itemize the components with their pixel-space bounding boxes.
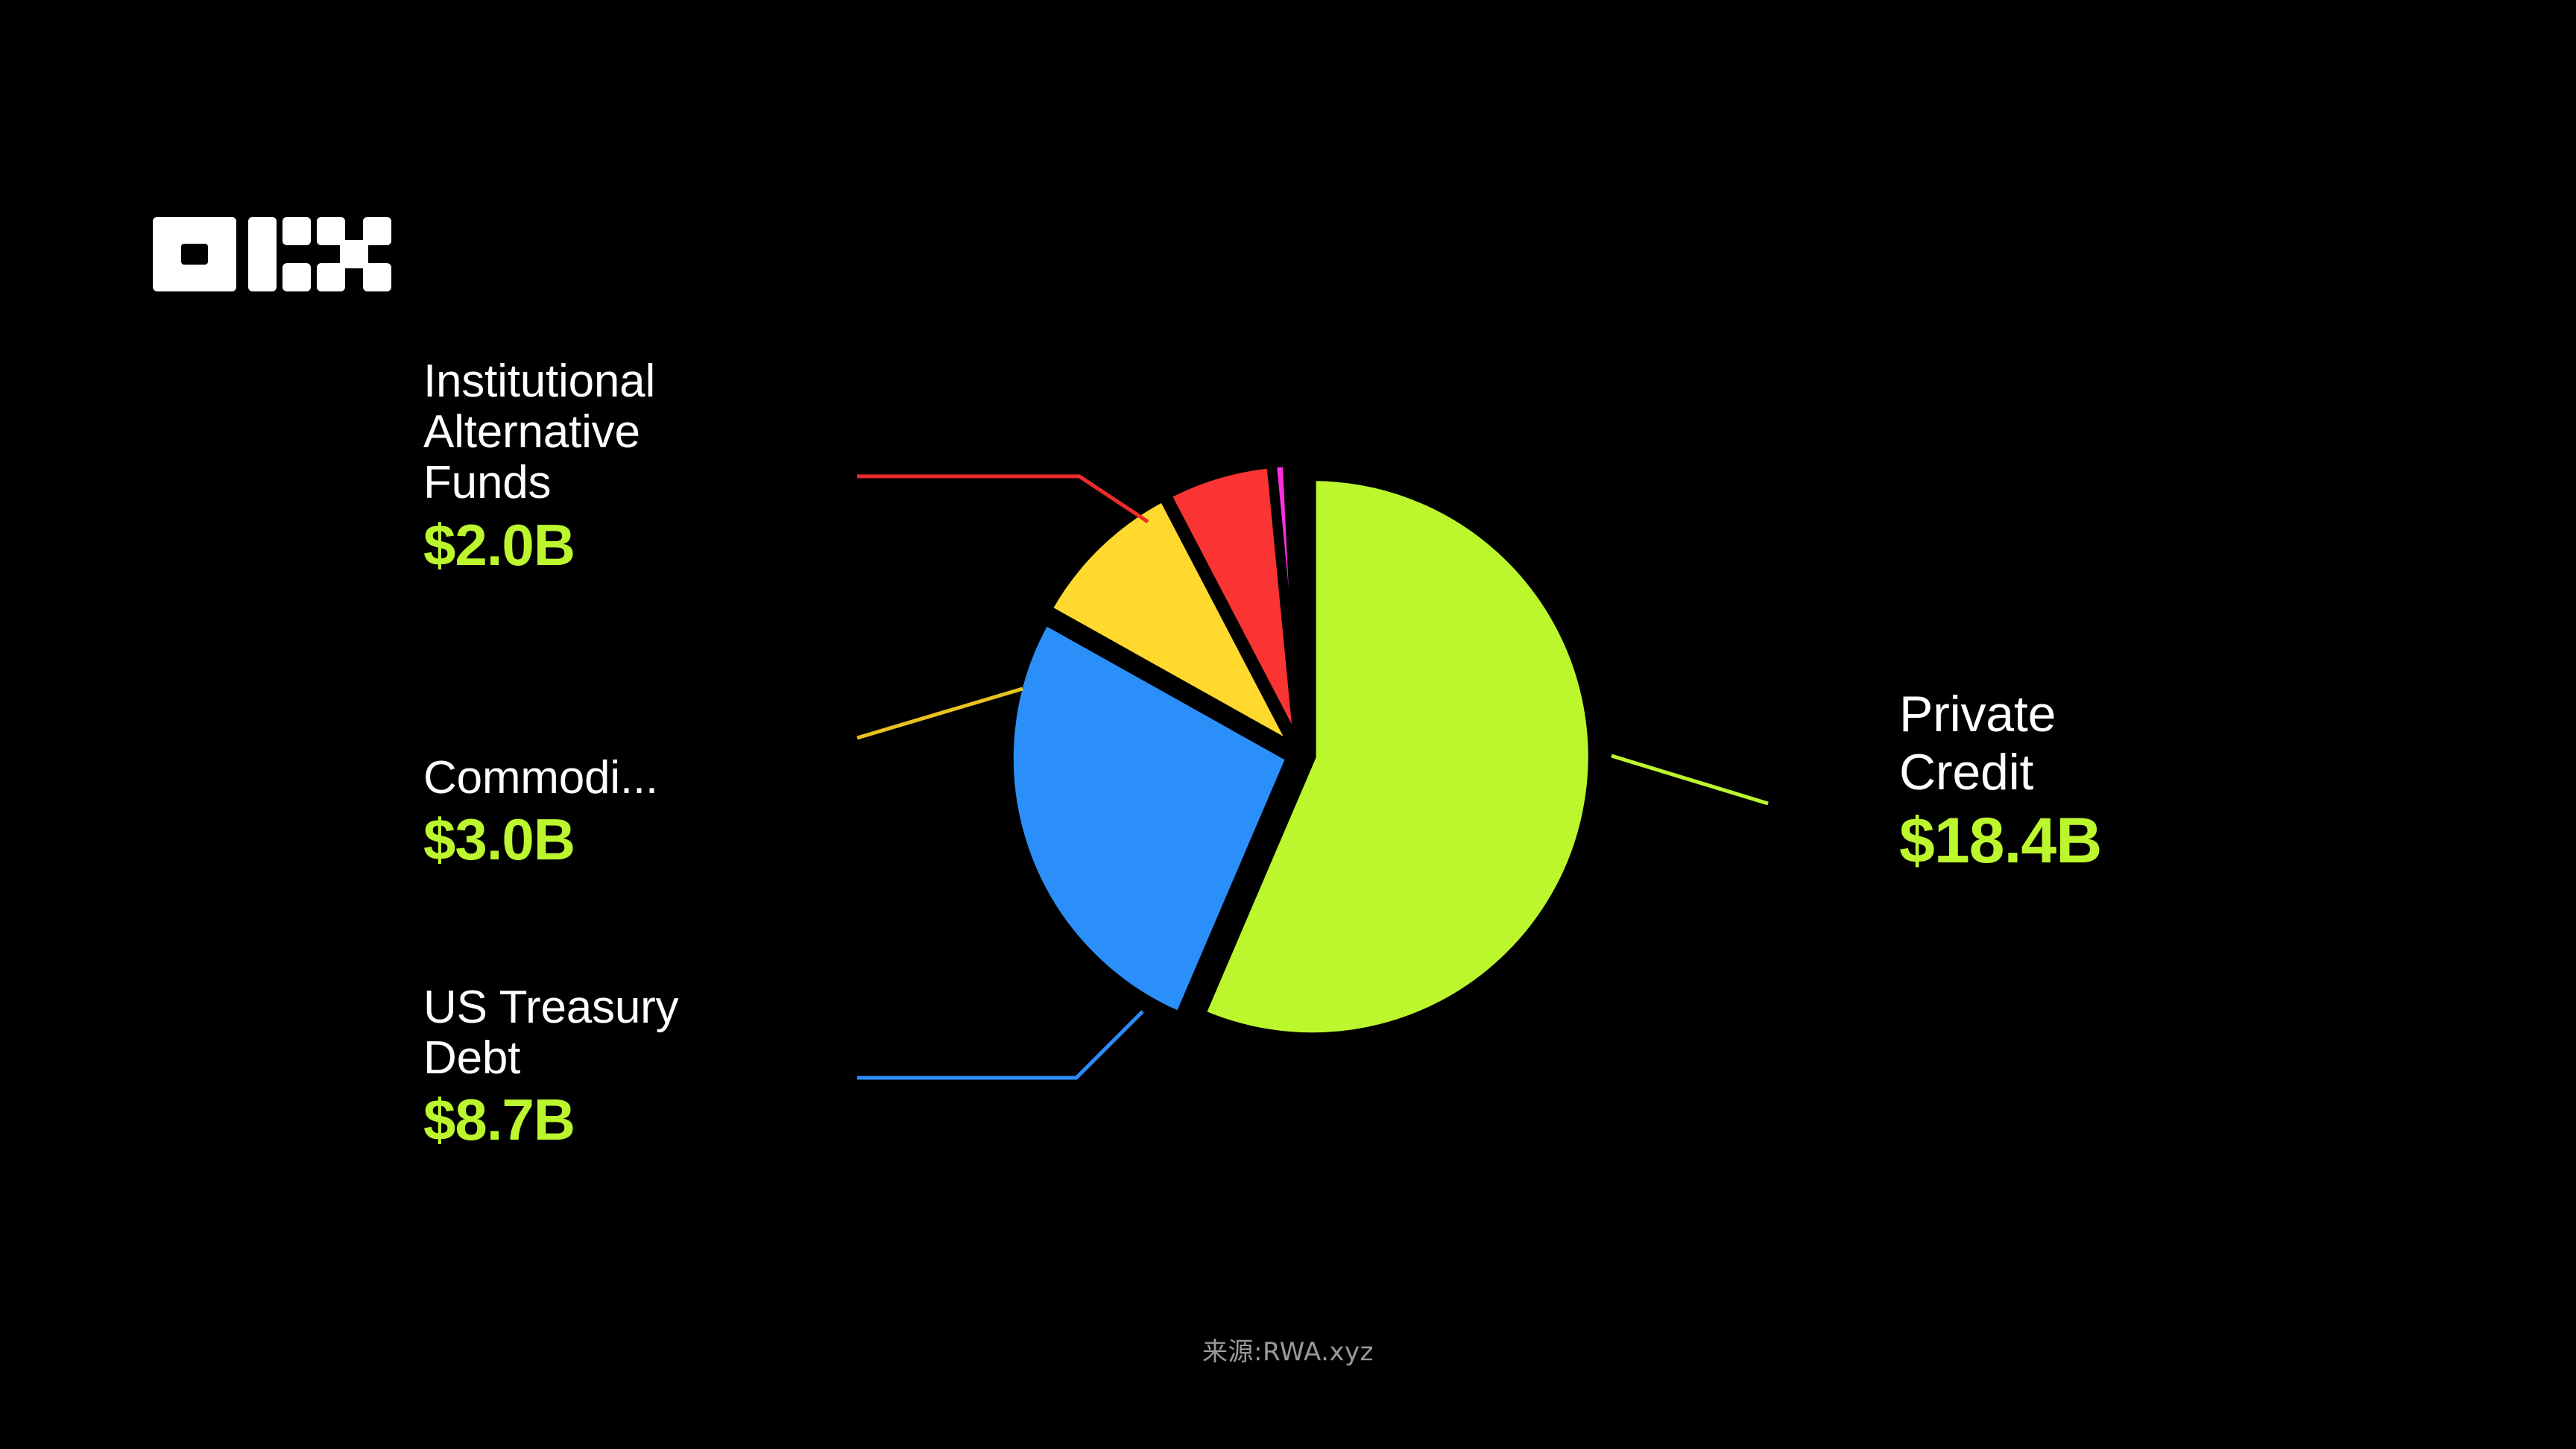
callout-category-label: Private Credit bbox=[1899, 686, 2317, 801]
callout-private-credit[interactable]: Private Credit $18.4B bbox=[1899, 686, 2317, 877]
source-note: 来源:RWA.xyz bbox=[0, 1331, 2576, 1368]
callout-value-label: $2.0B bbox=[423, 514, 774, 578]
callout-institutional-alternative-funds[interactable]: Institutional Alternative Funds $2.0B bbox=[423, 356, 774, 577]
callout-category-label: Commodi... bbox=[423, 753, 774, 804]
callout-value-label: $8.7B bbox=[423, 1088, 774, 1152]
leader-line-institutional-alternative-funds bbox=[857, 476, 1148, 522]
slide-canvas: Private Credit $18.4BUS Treasury Debt $8… bbox=[0, 0, 2576, 1449]
callout-value-label: $3.0B bbox=[423, 808, 774, 872]
callout-category-label: US Treasury Debt bbox=[423, 982, 774, 1084]
pie-slice-private-equity[interactable]: Private Equity bbox=[1299, 463, 1301, 742]
leader-line-commodities bbox=[857, 689, 1023, 738]
callout-category-label: Institutional Alternative Funds bbox=[423, 356, 774, 509]
leader-line-private-credit bbox=[1611, 756, 1768, 804]
leader-line-us-treasury-debt bbox=[857, 1011, 1143, 1078]
callout-commodities[interactable]: Commodi... $3.0B bbox=[423, 753, 774, 872]
pie-slice-group: Private Credit $18.4BUS Treasury Debt $8… bbox=[1010, 463, 1592, 1036]
callout-us-treasury-debt[interactable]: US Treasury Debt $8.7B bbox=[423, 982, 774, 1152]
callout-value-label: $18.4B bbox=[1899, 806, 2317, 877]
